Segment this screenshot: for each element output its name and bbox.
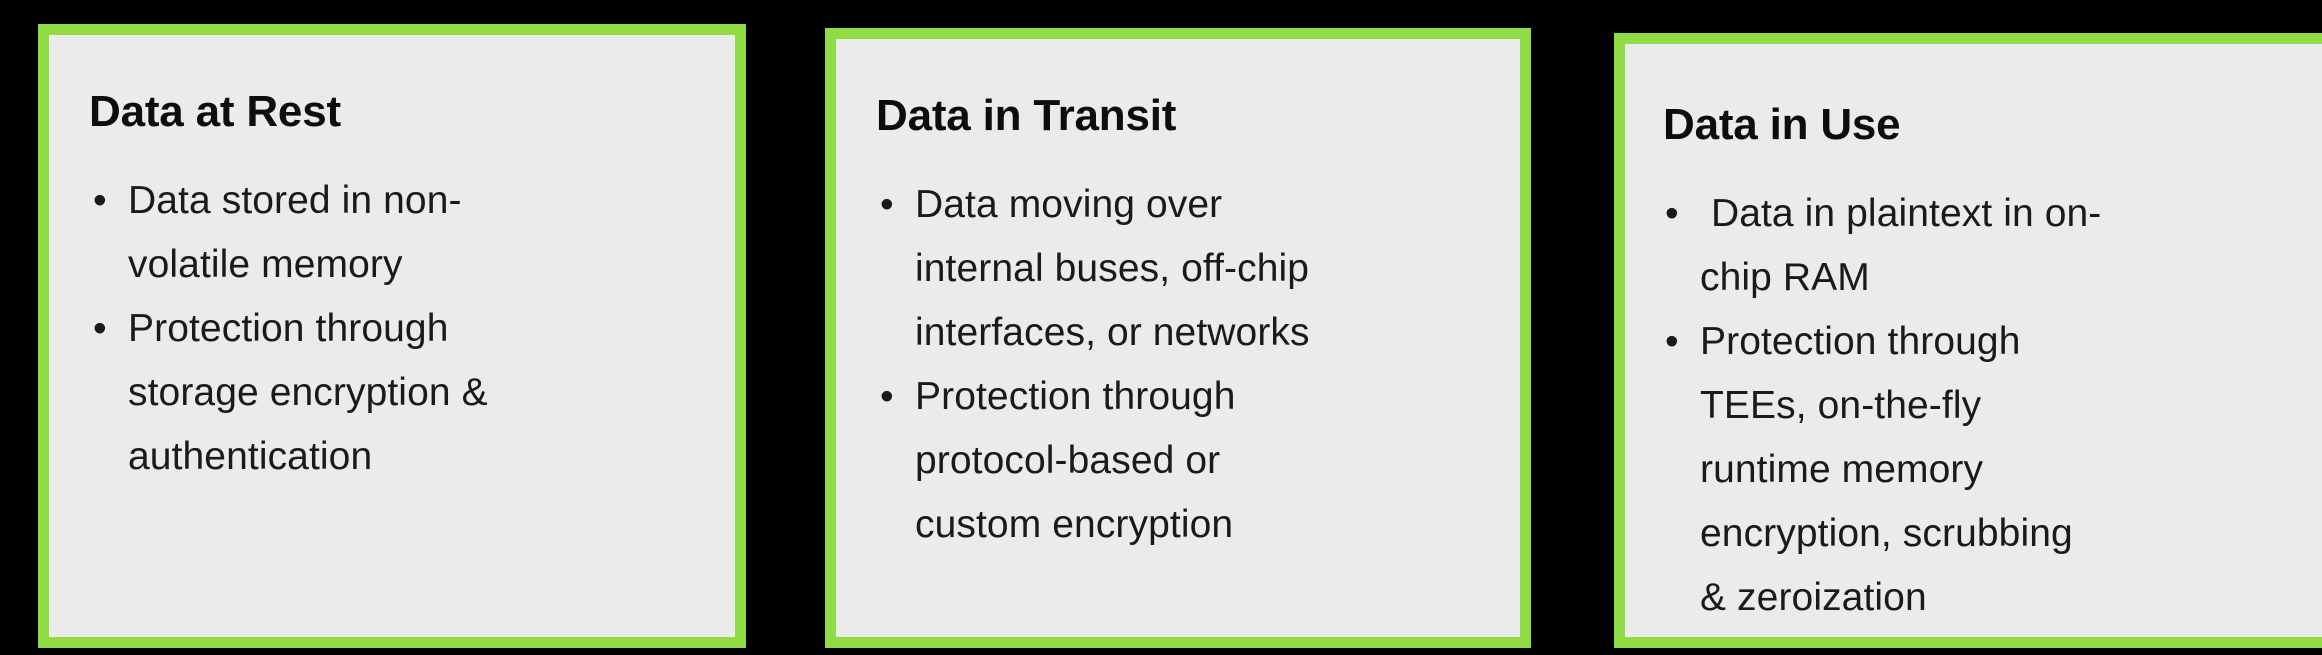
list-item-text: Protection through TEEs, on-the-fly runt…: [1700, 310, 2105, 630]
slide-canvas: Data at Rest • Data stored in non-volati…: [0, 0, 2322, 655]
list-item: • Data in plaintext in on-chip RAM: [1663, 182, 2322, 310]
card-title: Data in Use: [1625, 44, 2322, 148]
list-item-text: Data moving over internal buses, off-chi…: [915, 173, 1325, 365]
card-data-at-rest: Data at Rest • Data stored in non-volati…: [38, 24, 746, 648]
card-content: Data in Transit • Data moving over inter…: [836, 39, 1520, 637]
card-title: Data in Transit: [836, 39, 1520, 139]
bullet-dot-icon: •: [880, 365, 917, 429]
card-data-in-use: Data in Use • Data in plaintext in on-ch…: [1614, 33, 2322, 648]
bullet-dot-icon: •: [93, 169, 130, 233]
card-data-in-transit: Data in Transit • Data moving over inter…: [825, 28, 1531, 648]
card-title: Data at Rest: [49, 35, 735, 135]
list-item: • Data moving over internal buses, off-c…: [878, 173, 1520, 365]
bullet-list: • Data stored in non-volatile memory • P…: [49, 135, 735, 489]
bullet-dot-icon: •: [93, 297, 130, 361]
list-item: • Data stored in non-volatile memory: [91, 169, 735, 297]
list-item: • Protection through protocol-based or c…: [878, 365, 1520, 557]
list-item-text: Data in plaintext in on-chip RAM: [1700, 182, 2105, 310]
list-item: • Protection through TEEs, on-the-fly ru…: [1663, 310, 2322, 630]
bullet-dot-icon: •: [1665, 310, 1702, 374]
list-item-text: Protection through protocol-based or cus…: [915, 365, 1325, 557]
list-item: • Protection through storage encryption …: [91, 297, 735, 489]
card-content: Data in Use • Data in plaintext in on-ch…: [1625, 44, 2322, 637]
bullet-list: • Data moving over internal buses, off-c…: [836, 139, 1520, 557]
bullet-dot-icon: •: [1665, 182, 1702, 246]
bullet-dot-icon: •: [880, 173, 917, 237]
list-item-text: Protection through storage encryption & …: [128, 297, 528, 489]
bullet-list: • Data in plaintext in on-chip RAM • Pro…: [1625, 148, 2322, 630]
card-content: Data at Rest • Data stored in non-volati…: [49, 35, 735, 637]
list-item-text: Data stored in non-volatile memory: [128, 169, 528, 297]
